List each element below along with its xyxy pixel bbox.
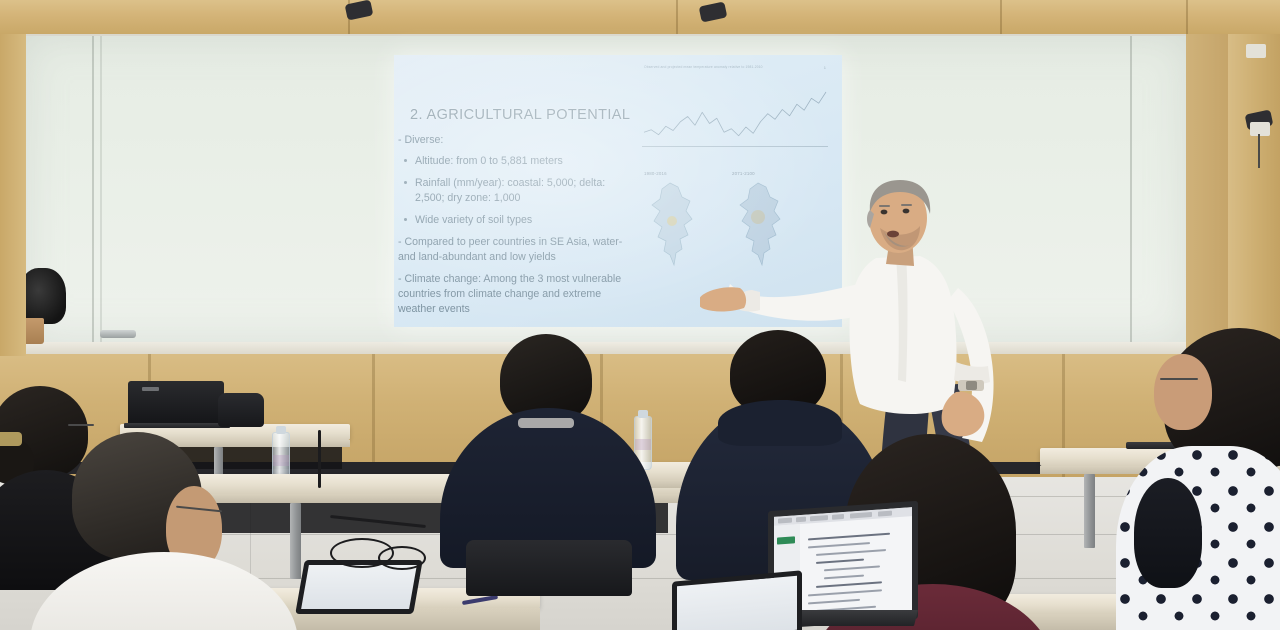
- device-cable: [1258, 134, 1260, 168]
- whiteboard-markers-icon: [20, 268, 66, 324]
- hood: [718, 400, 842, 446]
- slide-bullet: Rainfall (mm/year): coastal: 5,000; delt…: [398, 176, 632, 206]
- desk-leg: [1084, 474, 1095, 548]
- glasses-icon: [68, 424, 94, 426]
- chart-plot-area: [636, 63, 832, 173]
- map-label: 1980-2016: [644, 171, 667, 176]
- collar: [518, 418, 574, 428]
- hair-clip-icon: [0, 432, 22, 446]
- chart-x-axis: [642, 146, 828, 147]
- ceiling-wood-fascia: [0, 0, 1280, 34]
- glasses-icon: [1160, 378, 1198, 380]
- chair-rear: [218, 393, 264, 427]
- slide-lead: - Diverse:: [398, 133, 632, 148]
- slide-paragraph: - Climate change: Among the 3 most vulne…: [398, 272, 632, 317]
- map-label: 2071-2100: [732, 171, 755, 176]
- wall-jamb-left: [0, 30, 26, 356]
- slide-body: - Diverse: Altitude: from 0 to 5,881 met…: [398, 133, 632, 324]
- floor-cable: [318, 430, 321, 488]
- slide-title: 2. AGRICULTURAL POTENTIAL: [410, 107, 630, 123]
- map-shape-period-1: [640, 181, 702, 267]
- wall-mount-plate: [1250, 122, 1270, 136]
- slide-bullet: Altitude: from 0 to 5,881 meters: [398, 154, 632, 169]
- chair-center: [466, 540, 632, 596]
- desk-leg: [290, 503, 301, 579]
- laptop-base: [124, 423, 230, 428]
- app-toolbar[interactable]: [774, 507, 912, 526]
- head: [1154, 354, 1212, 430]
- slide-bullet-list: Altitude: from 0 to 5,881 meters Rainfal…: [398, 154, 632, 228]
- wall-pillar-inner-right: [1186, 34, 1230, 352]
- sidebar-action-button[interactable]: [777, 536, 795, 544]
- wall-mount-plate: [1246, 44, 1266, 58]
- tablet-foreground[interactable]: [672, 570, 802, 630]
- slide-bullet: Wide variety of soil types: [398, 213, 632, 228]
- sleeve: [1134, 478, 1202, 588]
- floor-cable-loop: [378, 546, 426, 570]
- slide-paragraph: - Compared to peer countries in SE Asia,…: [398, 235, 632, 265]
- slide-line-chart: Observed and projected mean temperature …: [636, 63, 832, 173]
- laptop-logo: [142, 387, 159, 391]
- lecture-room-photo: 2. AGRICULTURAL POTENTIAL - Diverse: Alt…: [0, 0, 1280, 630]
- whiteboard-eraser-icon: [100, 330, 136, 338]
